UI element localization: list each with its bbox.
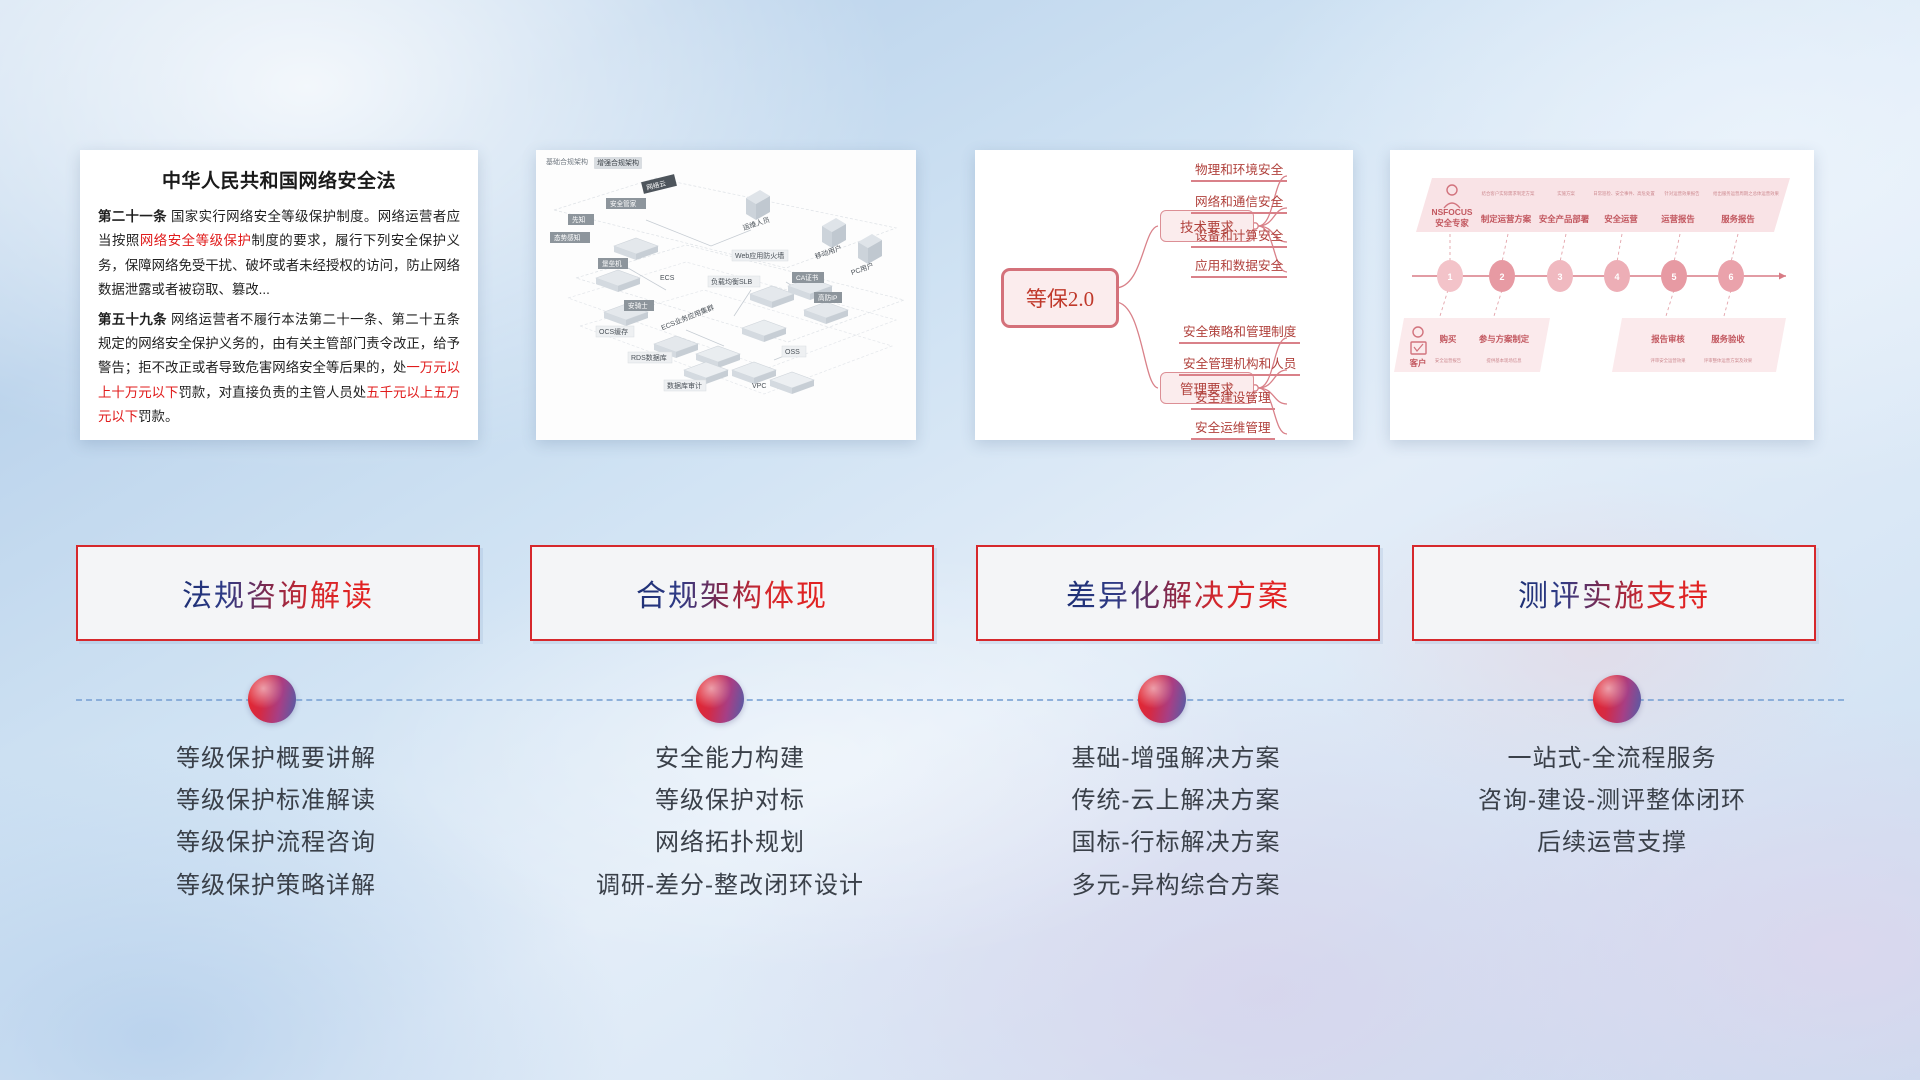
timeline-dot-4[interactable] [1593, 675, 1641, 723]
list-item: 基础-增强解决方案 [976, 738, 1376, 780]
section-items-differentiated-solutions: 基础-增强解决方案 传统-云上解决方案 国标-行标解决方案 多元-异构综合方案 [976, 738, 1376, 907]
section-header-regulation-consulting[interactable]: 法规咨询解读 [76, 545, 480, 641]
list-item: 等级保护概要讲解 [76, 738, 476, 780]
process-step-title: 购买 [1440, 334, 1457, 344]
section-items-compliance-architecture: 安全能力构建 等级保护对标 网络拓扑规划 调研-差分-整改闭环设计 [530, 738, 930, 907]
list-item: 一站式-全流程服务 [1412, 738, 1812, 780]
law-article-21-label: 第二十一条 [98, 209, 167, 224]
process-actor-nsfocus: NSFOCUS [1432, 207, 1473, 217]
process-step-number: 5 [1671, 272, 1676, 282]
timeline-dot-3[interactable] [1138, 675, 1186, 723]
law-article-21: 第二十一条 国家实行网络安全等级保护制度。网络运营者应当按照网络安全等级保护制度… [98, 205, 460, 303]
arch-node-label: 负载均衡SLB [711, 277, 753, 286]
arch-node-label: 安骑士 [628, 301, 648, 310]
mindmap-leaf: 网络和通信安全 [1191, 191, 1287, 214]
arch-node-label: RDS数据库 [631, 353, 667, 362]
process-step-note: 评审安全运营效果 [1650, 357, 1686, 364]
law-article-59-text-c: 罚款。 [138, 409, 178, 424]
section-header-label: 差异化解决方案 [1066, 571, 1290, 615]
list-item: 等级保护策略详解 [76, 865, 476, 907]
law-article-59-label: 第五十九条 [98, 312, 167, 327]
section-header-differentiated-solutions[interactable]: 差异化解决方案 [976, 545, 1380, 641]
list-item: 等级保护对标 [530, 780, 930, 822]
timeline [0, 668, 1920, 732]
arch-node-label: OSS [785, 349, 800, 356]
process-step-number: 4 [1614, 272, 1619, 282]
list-item: 咨询-建设-测评整体闭环 [1412, 780, 1812, 822]
mindmap-root-node: 等保2.0 [1001, 268, 1119, 328]
timeline-dot-1[interactable] [248, 675, 296, 723]
section-header-label: 测评实施支持 [1518, 571, 1710, 615]
process-step-note: 实施方案 [1557, 190, 1575, 197]
law-article-21-highlight: 网络安全等级保护 [140, 233, 252, 248]
list-item: 等级保护流程咨询 [76, 822, 476, 864]
process-step-title: 安全产品部署 [1539, 214, 1590, 224]
process-step-title: 服务报告 [1721, 214, 1755, 224]
arch-node-label: CA证书 [796, 273, 819, 282]
arch-node-label: VPC [752, 383, 766, 390]
card-compliance-architecture: 基础合规架构 增强合规架构 [536, 150, 916, 440]
law-article-59-text-b: 罚款，对直接负责的主管人员处 [178, 385, 366, 400]
law-article-59: 第五十九条 网络运营者不履行本法第二十一条、第二十五条规定的网络安全保护义务的，… [98, 308, 460, 430]
arch-node-label: 先知 [572, 215, 585, 224]
arch-node-label: 堡垒机 [602, 259, 622, 268]
arch-node-label: PC用户 [850, 260, 875, 277]
arch-node-label: Web应用防火墙 [735, 251, 784, 260]
law-title: 中华人民共和国网络安全法 [98, 166, 460, 193]
process-step-number: 6 [1728, 272, 1733, 282]
section-header-compliance-architecture[interactable]: 合规架构体现 [530, 545, 934, 641]
arch-node-label: 态势感知 [554, 233, 580, 242]
process-actor-customer: 客户 [1409, 358, 1427, 368]
reference-cards-row: 中华人民共和国网络安全法 第二十一条 国家实行网络安全等级保护制度。网络运营者应… [0, 150, 1920, 450]
process-step-title: 报告审核 [1651, 334, 1685, 344]
process-step-number: 3 [1557, 272, 1562, 282]
list-item: 多元-异构综合方案 [976, 865, 1376, 907]
card-cybersecurity-law: 中华人民共和国网络安全法 第二十一条 国家实行网络安全等级保护制度。网络运营者应… [80, 150, 478, 440]
arch-node-label: 高防IP [818, 293, 838, 302]
process-step-number: 1 [1447, 272, 1452, 282]
list-item: 网络拓扑规划 [530, 822, 930, 864]
process-step-title: 制定运营方案 [1481, 214, 1532, 224]
list-item: 等级保护标准解读 [76, 780, 476, 822]
process-step-title: 安全运营 [1604, 214, 1638, 224]
section-headers-row: 法规咨询解读 合规架构体现 差异化解决方案 测评实施支持 [0, 545, 1920, 645]
arch-node-label: 数据库审计 [667, 381, 702, 390]
section-items-regulation-consulting: 等级保护概要讲解 等级保护标准解读 等级保护流程咨询 等级保护策略详解 [76, 738, 476, 907]
list-item: 调研-差分-整改闭环设计 [530, 865, 930, 907]
section-header-label: 合规架构体现 [636, 571, 828, 615]
process-step-title: 服务验收 [1711, 334, 1745, 344]
mindmap-leaf: 安全建设管理 [1191, 387, 1275, 410]
process-step-number: 2 [1499, 272, 1504, 282]
mindmap-leaf: 安全管理机构和人员 [1179, 353, 1300, 376]
list-item: 国标-行标解决方案 [976, 822, 1376, 864]
process-step-note: 给出服务运营周期之总体运营效果 [1713, 190, 1779, 197]
mindmap-leaf: 设备和计算安全 [1191, 225, 1287, 248]
process-step-note: 提供基本现场信息 [1486, 357, 1522, 364]
arch-node-label: OCS缓存 [599, 327, 628, 336]
card-service-process: 1 2 3 4 5 6 NSFOCUS 安全专家 结合客户实际需求制定方案 制 [1390, 150, 1814, 440]
process-step-note: 评审整体运营方案及效果 [1704, 357, 1753, 364]
process-step-note: 日常巡检、安全事件、高危处置 [1593, 190, 1655, 197]
section-header-assessment-support[interactable]: 测评实施支持 [1412, 545, 1816, 641]
arch-node-label: ECS [660, 275, 675, 282]
process-step-note: 安全运营报告 [1435, 357, 1462, 364]
card-dengbao-mindmap: 等保2.0 技术要求 管理要求 物理和环境安全 网络和通信安全 设备和计算安全 … [975, 150, 1353, 440]
arch-node-label: 安全管家 [610, 199, 637, 208]
mindmap-leaf: 安全运维管理 [1191, 417, 1275, 440]
timeline-dot-2[interactable] [696, 675, 744, 723]
section-header-label: 法规咨询解读 [182, 571, 374, 615]
list-item: 后续运营支撑 [1412, 822, 1812, 864]
process-step-title: 参与方案制定 [1478, 334, 1530, 344]
section-items-assessment-support: 一站式-全流程服务 咨询-建设-测评整体闭环 后续运营支撑 [1412, 738, 1812, 865]
process-step-title: 运营报告 [1661, 214, 1695, 224]
section-items-row: 等级保护概要讲解 等级保护标准解读 等级保护流程咨询 等级保护策略详解 安全能力… [0, 738, 1920, 968]
mindmap-leaf: 物理和环境安全 [1191, 159, 1287, 182]
process-timeline-diagram: 1 2 3 4 5 6 NSFOCUS 安全专家 结合客户实际需求制定方案 制 [1390, 150, 1814, 440]
mindmap-leaf: 应用和数据安全 [1191, 255, 1287, 278]
list-item: 传统-云上解决方案 [976, 780, 1376, 822]
timeline-rail [76, 699, 1844, 701]
mindmap-leaf: 安全策略和管理制度 [1179, 321, 1300, 344]
process-step-note: 针对运营效果报告 [1664, 190, 1700, 197]
process-actor-nsfocus-sub: 安全专家 [1435, 218, 1469, 228]
architecture-diagram: 网络云 安全管家 先知 态势感知 堡垒机 运维人员 移动用户 PC用户 Web应… [536, 150, 916, 440]
list-item: 安全能力构建 [530, 738, 930, 780]
process-step-note: 结合客户实际需求制定方案 [1482, 190, 1535, 197]
